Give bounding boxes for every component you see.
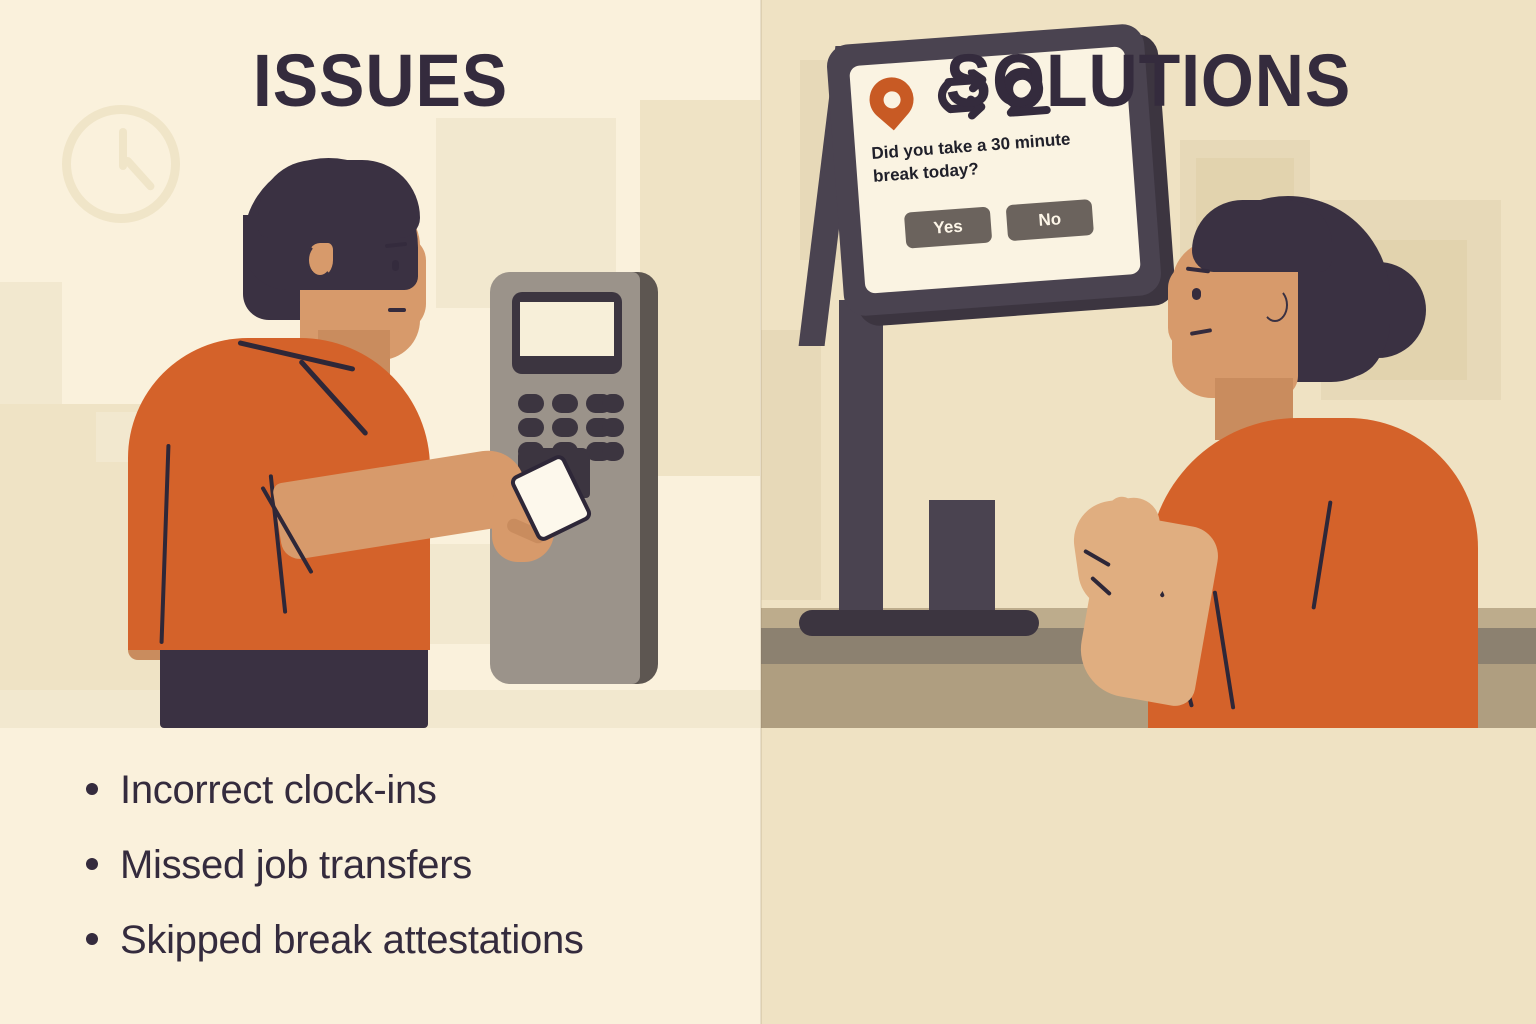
solutions-list-band: Location-aware clock-ins Real-time job t… (761, 728, 1536, 1024)
bg-shape-box-e (640, 100, 760, 350)
keypad-key[interactable] (602, 418, 624, 437)
worker-trousers (160, 640, 428, 728)
worker2-ear (1262, 288, 1288, 322)
keypad-key[interactable] (518, 394, 544, 413)
list-item: Incorrect clock-ins (86, 768, 746, 813)
time-clock-display (520, 302, 614, 356)
worker2-face-front (1168, 264, 1208, 350)
issues-list-band: Incorrect clock-ins Missed job transfers… (0, 728, 761, 1024)
bullet-dot-icon (86, 783, 98, 795)
keypad-key[interactable] (602, 394, 624, 413)
solutions-title: SOLUTIONS (792, 38, 1505, 123)
keypad-key[interactable] (518, 418, 544, 437)
worker-hair-top (258, 160, 420, 238)
keypad-key[interactable] (552, 418, 578, 437)
list-item: Skipped break attestations (86, 918, 746, 963)
issues-bullet-3: Skipped break attestations (120, 918, 584, 963)
worker2-eye (1192, 288, 1201, 300)
worker2-hair-front (1192, 200, 1332, 272)
issues-bullet-2: Missed job transfers (120, 843, 472, 888)
worker-mouth (388, 308, 406, 312)
infographic-canvas: Did you take a 30 minute break today? Ye… (0, 0, 1536, 1024)
issues-title: ISSUES (30, 38, 730, 123)
worker-eye (392, 260, 399, 271)
bullet-dot-icon (86, 858, 98, 870)
list-item: Missed job transfers (86, 843, 746, 888)
keypad-key[interactable] (602, 442, 624, 461)
issues-bullet-1: Incorrect clock-ins (120, 768, 437, 813)
panel-divider (760, 0, 762, 1024)
worker-ear (307, 243, 333, 277)
bullet-dot-icon (86, 933, 98, 945)
keypad-key[interactable] (552, 394, 578, 413)
issues-bullet-list: Incorrect clock-ins Missed job transfers… (86, 768, 746, 993)
